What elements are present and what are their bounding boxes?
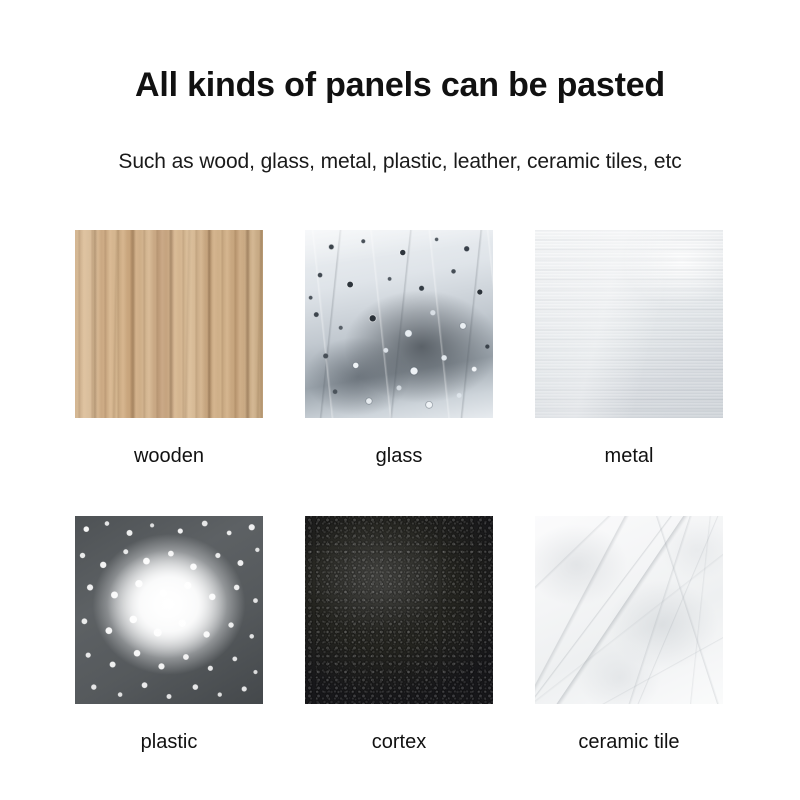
material-label-wooden: wooden [75, 445, 263, 468]
material-label-metal: metal [535, 445, 723, 468]
material-card-cortex: cortex [305, 516, 493, 754]
material-card-ceramic-tile: ceramic tile [535, 516, 723, 754]
plastic-highlight-layer [75, 516, 263, 704]
wood-texture-swatch [75, 230, 263, 418]
material-label-glass: glass [305, 445, 493, 468]
marble-fine-vein-layer [535, 516, 723, 704]
glass-texture-swatch [305, 230, 493, 418]
material-card-metal: metal [535, 230, 723, 468]
material-card-glass: glass [305, 230, 493, 468]
page-title: All kinds of panels can be pasted [0, 66, 800, 105]
material-card-wooden: wooden [75, 230, 263, 468]
leather-texture-swatch [305, 516, 493, 704]
metal-sheen-layer [535, 230, 723, 418]
page-subtitle: Such as wood, glass, metal, plastic, lea… [0, 150, 800, 174]
material-card-plastic: plastic [75, 516, 263, 754]
plastic-texture-swatch [75, 516, 263, 704]
wood-sheen-layer [75, 230, 263, 418]
leather-sheen-layer [305, 516, 493, 704]
metal-texture-swatch [535, 230, 723, 418]
water-droplet-layer [305, 230, 493, 418]
material-label-plastic: plastic [75, 731, 263, 754]
infographic-page: All kinds of panels can be pasted Such a… [0, 0, 800, 800]
marble-texture-swatch [535, 516, 723, 704]
material-label-ceramic-tile: ceramic tile [535, 731, 723, 754]
material-grid: wooden glass metal [75, 230, 723, 754]
material-label-cortex: cortex [305, 731, 493, 754]
